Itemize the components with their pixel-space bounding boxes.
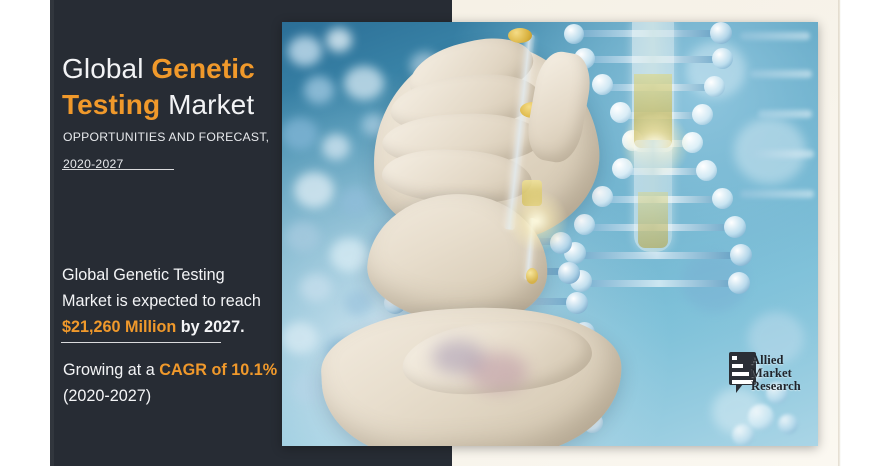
dark-panel-left-stripe — [50, 0, 54, 466]
title-part-1: Global — [62, 53, 151, 84]
logo-wordmark: Allied Market Research — [751, 354, 801, 392]
logo-line-1: Allied — [751, 354, 801, 367]
cagr-period: (2020-2027) — [63, 387, 151, 405]
logo-line-3: Research — [751, 380, 801, 393]
divider-above-cagr — [61, 342, 221, 343]
cream-panel-edge-shadow — [838, 0, 841, 466]
cagr-statement: Growing at a CAGR of 10.1% (2020-2027) — [63, 357, 423, 409]
cagr-prefix: Growing at a — [63, 361, 159, 379]
stat-value: $21,260 Million — [62, 318, 176, 336]
subtitle-line-2: 2020-2027 — [63, 151, 393, 178]
pipette-cap-top — [508, 28, 532, 43]
subtitle-line-1: OPPORTUNITIES AND FORECAST, — [63, 124, 393, 151]
divider-under-subtitle — [62, 169, 174, 170]
title-part-4: Market — [160, 89, 254, 120]
page-title: Global Genetic Testing Market — [62, 51, 422, 123]
stat-line-3-tail: by 2027. — [176, 318, 244, 336]
title-accent-testing: Testing — [62, 89, 160, 120]
poster-canvas: DNA — [0, 0, 890, 466]
logo-bar-chart-icon — [732, 356, 753, 384]
market-value-statement: Global Genetic Testing Market is expecte… — [62, 262, 422, 340]
title-accent-genetic: Genetic — [151, 53, 254, 84]
logo-line-2: Market — [751, 367, 801, 380]
stat-line-2: Market is expected to reach — [62, 292, 261, 310]
stat-line-1: Global Genetic Testing — [62, 266, 225, 284]
cagr-value: CAGR of 10.1% — [159, 361, 277, 379]
allied-market-research-logo[interactable]: Allied Market Research — [729, 352, 815, 396]
logo-bubble-tail — [736, 384, 743, 393]
